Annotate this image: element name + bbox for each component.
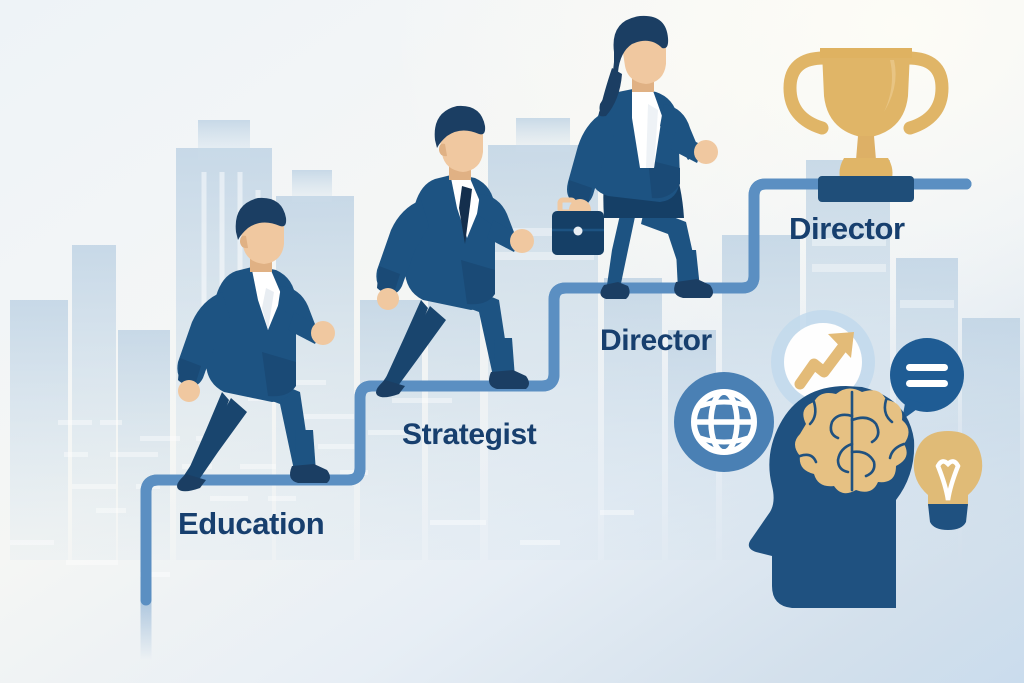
step-label-director-2: Director: [789, 211, 905, 247]
globe-icon: [674, 372, 774, 472]
step-label-education: Education: [178, 506, 324, 542]
step-label-director-1: Director: [600, 324, 712, 358]
career-staircase-illustration: Education Strategist Director Director: [0, 0, 1024, 683]
step-label-strategist: Strategist: [402, 418, 536, 452]
